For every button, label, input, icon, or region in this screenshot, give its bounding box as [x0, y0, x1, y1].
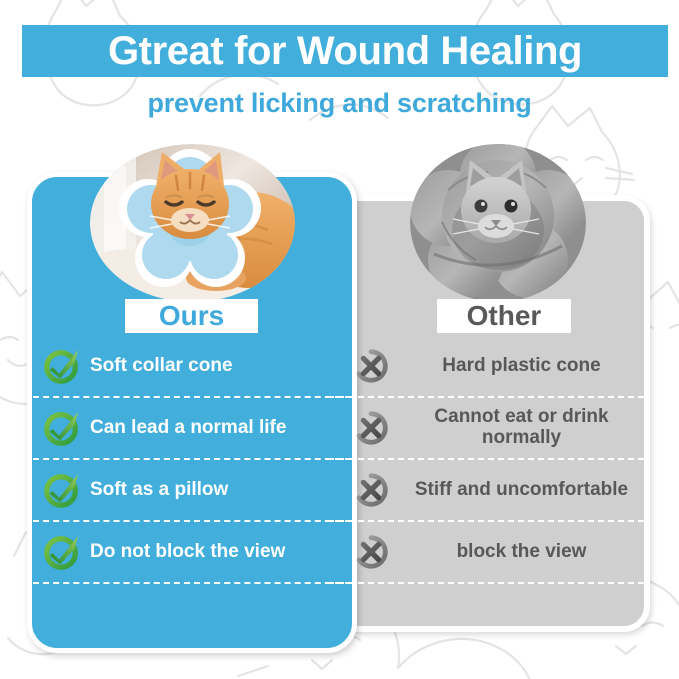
feature-text: Can lead a normal life	[90, 418, 286, 439]
green-check-circle-icon	[43, 533, 81, 571]
feature-row-ours-3: Soft as a pillow	[33, 460, 351, 522]
feature-row-ours-2: Can lead a normal life	[33, 398, 351, 460]
label-other: Other	[437, 299, 571, 333]
gray-x-circle-icon	[352, 471, 390, 509]
feature-text: block the view	[399, 542, 644, 563]
green-check-circle-icon	[43, 471, 81, 509]
feature-row-other-2: Cannot eat or drink normally	[328, 398, 644, 460]
feature-row-other-3: Stiff and uncomfortable	[328, 460, 644, 522]
feature-list-other: Hard plastic cone Cannot eat or drink no…	[328, 336, 644, 584]
green-check-circle-icon	[43, 409, 81, 447]
page-title: Gtreat for Wound Healing	[108, 31, 582, 71]
page-subtitle: prevent licking and scratching	[0, 88, 679, 119]
feature-row-other-4: block the view	[328, 522, 644, 584]
feature-text: Cannot eat or drink normally	[399, 407, 644, 448]
feature-text: Hard plastic cone	[399, 356, 644, 377]
photo-ours-cat	[90, 144, 295, 302]
label-other-text: Other	[467, 302, 542, 330]
feature-text: Stiff and uncomfortable	[399, 480, 644, 501]
feature-row-ours-4: Do not block the view	[33, 522, 351, 584]
feature-row-ours-1: Soft collar cone	[33, 336, 351, 398]
label-ours: Ours	[125, 299, 258, 333]
gray-x-circle-icon	[352, 409, 390, 447]
photo-other-cat	[410, 144, 586, 302]
green-check-circle-icon	[43, 347, 81, 385]
feature-row-other-1: Hard plastic cone	[328, 336, 644, 398]
title-banner: Gtreat for Wound Healing	[22, 25, 668, 77]
label-ours-text: Ours	[159, 302, 224, 330]
feature-list-ours: Soft collar cone Can lead a normal life …	[33, 336, 351, 584]
gray-x-circle-icon	[352, 347, 390, 385]
feature-text: Soft collar cone	[90, 356, 233, 377]
feature-text: Soft as a pillow	[90, 480, 228, 501]
gray-x-circle-icon	[352, 533, 390, 571]
feature-text: Do not block the view	[90, 542, 285, 563]
comparison-infographic: Gtreat for Wound Healing prevent licking…	[0, 0, 679, 679]
